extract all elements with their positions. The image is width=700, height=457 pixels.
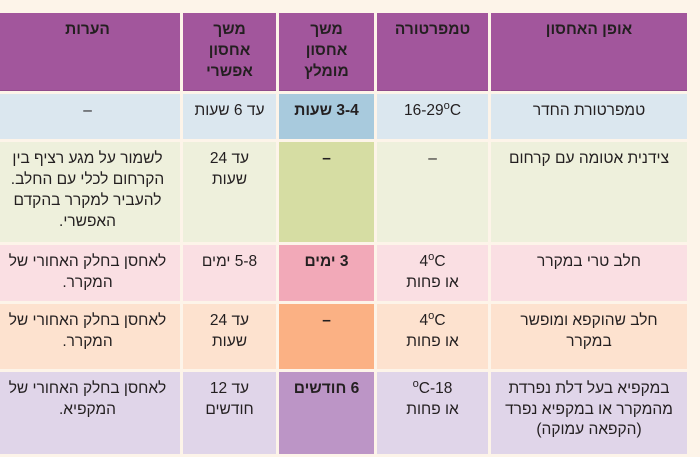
temperature-value: 4oC: [419, 312, 445, 329]
cell-possible-duration: עד 12 חודשים: [183, 372, 276, 454]
temperature-suffix: או פחות: [406, 401, 458, 418]
milk-storage-table: אופן האחסון טמפרטורה משך אחסון מומלץ משך…: [0, 10, 690, 457]
degree-icon: o: [428, 309, 434, 321]
storage-table-container: אופן האחסון טמפרטורה משך אחסון מומלץ משך…: [10, 10, 690, 426]
cell-optimal-duration: 3 ימים: [279, 245, 374, 301]
cell-notes: לאחסן בחלק האחורי של המקפיא.: [0, 372, 180, 454]
column-header-possible: משך אחסון אפשרי: [183, 13, 276, 91]
column-header-method: אופן האחסון: [491, 13, 687, 91]
temperature-value: 18-oC: [413, 380, 453, 397]
table-body: טמפרטורת החדר16-29oC3-4 שעותעד 6 שעות–צי…: [0, 94, 687, 454]
cell-possible-duration: עד 24 שעות: [183, 304, 276, 369]
table-header: אופן האחסון טמפרטורה משך אחסון מומלץ משך…: [0, 13, 687, 91]
cell-temperature: 4oCאו פחות: [377, 245, 488, 301]
column-header-temp: טמפרטורה: [377, 13, 488, 91]
temperature-suffix: או פחות: [406, 274, 458, 291]
temperature-value: 16-29oC: [404, 102, 461, 119]
table-row: טמפרטורת החדר16-29oC3-4 שעותעד 6 שעות–: [0, 94, 687, 139]
cell-notes: לאחסן בחלק האחורי של המקרר.: [0, 304, 180, 369]
table-row: צידנית אטומה עם קרחום––עד 24 שעותלשמור ע…: [0, 142, 687, 242]
temperature-value: 4oC: [419, 253, 445, 270]
cell-notes: לשמור על מגע רציף בין הקרחום לכלי עם החל…: [0, 142, 180, 242]
table-row: חלב שהוקפא ומופשר במקרר4oCאו פחות–עד 24 …: [0, 304, 687, 369]
column-header-notes: הערות: [0, 13, 180, 91]
cell-optimal-duration: 3-4 שעות: [279, 94, 374, 139]
cell-storage-method: טמפרטורת החדר: [491, 94, 687, 139]
cell-storage-method: במקפיא בעל דלת נפרדת מהמקרר או במקפיא נפ…: [491, 372, 687, 454]
cell-storage-method: חלב שהוקפא ומופשר במקרר: [491, 304, 687, 369]
table-row: במקפיא בעל דלת נפרדת מהמקרר או במקפיא נפ…: [0, 372, 687, 454]
cell-storage-method: חלב טרי במקרר: [491, 245, 687, 301]
column-header-optimal: משך אחסון מומלץ: [279, 13, 374, 91]
cell-temperature: 16-29oC: [377, 94, 488, 139]
table-header-row: אופן האחסון טמפרטורה משך אחסון מומלץ משך…: [0, 13, 687, 91]
cell-optimal-duration: 6 חודשים: [279, 372, 374, 454]
cell-temperature: 18-oCאו פחות: [377, 372, 488, 454]
cell-temperature: –: [377, 142, 488, 242]
cell-possible-duration: עד 24 שעות: [183, 142, 276, 242]
cell-storage-method: צידנית אטומה עם קרחום: [491, 142, 687, 242]
cell-notes: לאחסן בחלק האחורי של המקרר.: [0, 245, 180, 301]
degree-icon: o: [428, 251, 434, 263]
degree-icon: o: [413, 377, 419, 389]
temperature-suffix: או פחות: [406, 333, 458, 350]
cell-possible-duration: 5-8 ימים: [183, 245, 276, 301]
cell-notes: –: [0, 94, 180, 139]
cell-possible-duration: עד 6 שעות: [183, 94, 276, 139]
cell-temperature: 4oCאו פחות: [377, 304, 488, 369]
cell-optimal-duration: –: [279, 142, 374, 242]
degree-icon: o: [444, 100, 450, 112]
table-row: חלב טרי במקרר4oCאו פחות3 ימים5-8 ימיםלאח…: [0, 245, 687, 301]
cell-optimal-duration: –: [279, 304, 374, 369]
